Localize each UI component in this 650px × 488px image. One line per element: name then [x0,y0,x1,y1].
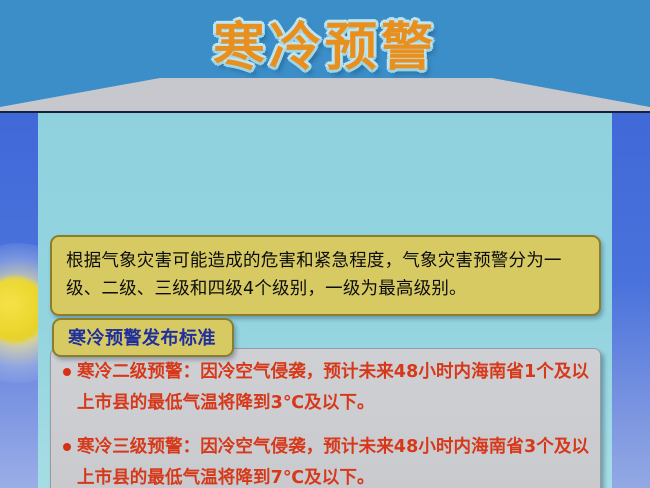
bullet-dot-icon [63,368,71,376]
title-banner: 寒冷预警 [0,0,650,113]
left-decor-strip [0,113,38,488]
list-item: 寒冷二级预警：因冷空气侵袭，预计未来48小时内海南省1个及以上市县的最低气温将降… [61,357,590,419]
criteria-text: 寒冷三级预警：因冷空气侵袭，预计未来48小时内海南省3个及以上市县的最低气温将降… [77,432,590,488]
section-tab: 寒冷预警发布标准 [52,318,234,357]
intro-callout-box: 根据气象灾害可能造成的危害和紧急程度，气象灾害预警分为一级、二级、三级和四级4个… [50,235,601,316]
list-item: 寒冷三级预警：因冷空气侵袭，预计未来48小时内海南省3个及以上市县的最低气温将降… [61,432,590,488]
criteria-text: 寒冷二级预警：因冷空气侵袭，预计未来48小时内海南省1个及以上市县的最低气温将降… [77,357,590,419]
slide-root: 寒冷预警 根据气象灾害可能造成的危害和紧急程度，气象灾害预警分为一级、二级、三级… [0,0,650,488]
page-title: 寒冷预警 [0,16,650,80]
content-area: 根据气象灾害可能造成的危害和紧急程度，气象灾害预警分为一级、二级、三级和四级4个… [0,113,650,488]
bullet-dot-icon [63,443,71,451]
right-decor-strip [612,113,650,488]
sun-icon [0,277,38,343]
intro-paragraph: 根据气象灾害可能造成的危害和紧急程度，气象灾害预警分为一级、二级、三级和四级4个… [66,247,587,303]
criteria-list: 寒冷二级预警：因冷空气侵袭，预计未来48小时内海南省1个及以上市县的最低气温将降… [61,357,590,488]
section-tab-label: 寒冷预警发布标准 [68,328,216,349]
criteria-panel: 寒冷二级预警：因冷空气侵袭，预计未来48小时内海南省1个及以上市县的最低气温将降… [50,348,601,488]
